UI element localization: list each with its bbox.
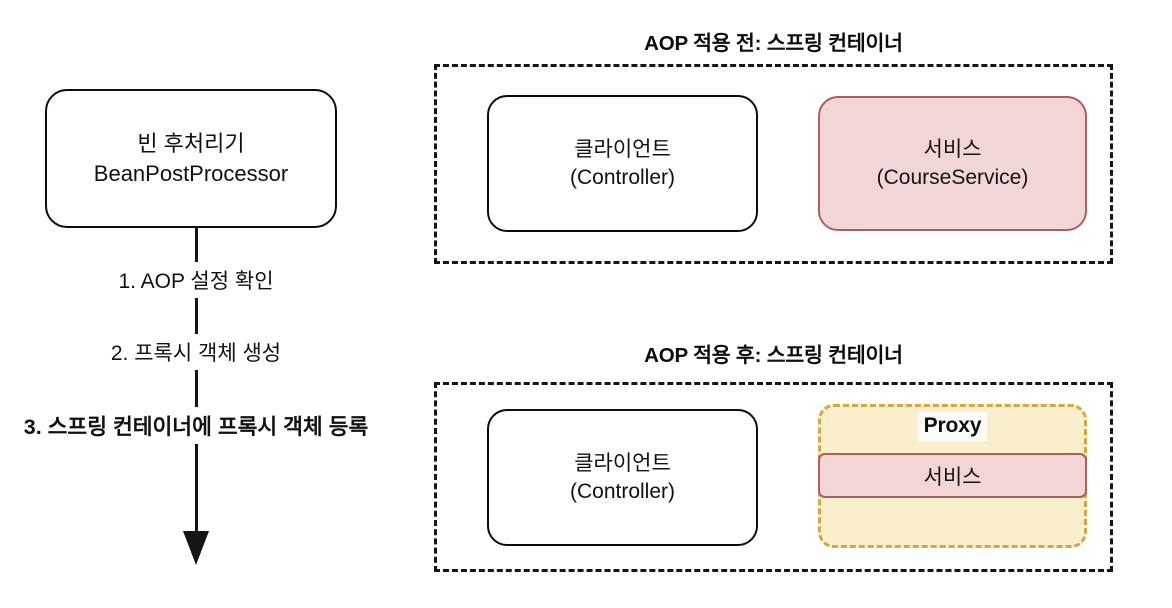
bean-post-processor-title-en: BeanPostProcessor	[94, 159, 288, 188]
proxy-service-label: 서비스	[924, 461, 982, 491]
service-label-ko: 서비스	[924, 136, 982, 163]
flow-step-1-label: 1. AOP 설정 확인	[65, 262, 327, 298]
panel-title-after-aop: AOP 적용 후: 스프링 컨테이너	[434, 338, 1113, 368]
client-label-ko: 클라이언트	[574, 136, 671, 163]
flow-step-3-label: 3. 스프링 컨테이너에 프록시 객체 등록	[4, 407, 388, 444]
client-node-after-aop: 클라이언트 (Controller)	[487, 409, 758, 546]
proxy-inner-service-node: 서비스	[818, 453, 1087, 498]
client-label-ko: 클라이언트	[574, 450, 671, 477]
proxy-label-wrapper: Proxy	[821, 412, 1084, 441]
client-label-en: (Controller)	[570, 164, 675, 191]
proxy-label: Proxy	[918, 412, 988, 441]
proxy-node-after-aop: Proxy 서비스	[818, 404, 1087, 548]
service-node-before-aop: 서비스 (CourseService)	[818, 96, 1087, 231]
diagram-canvas: 빈 후처리기 BeanPostProcessor 1. AOP 설정 확인 2.…	[0, 0, 1172, 608]
flow-step-2-label: 2. 프록시 객체 생성	[60, 334, 332, 370]
flow-arrow-head-icon	[183, 531, 209, 565]
panel-title-before-aop: AOP 적용 전: 스프링 컨테이너	[434, 26, 1113, 56]
service-label-en: (CourseService)	[877, 164, 1029, 191]
client-label-en: (Controller)	[570, 478, 675, 505]
client-node-before-aop: 클라이언트 (Controller)	[487, 95, 758, 232]
bean-post-processor-title-ko: 빈 후처리기	[137, 129, 244, 158]
bean-post-processor-node: 빈 후처리기 BeanPostProcessor	[45, 89, 337, 228]
